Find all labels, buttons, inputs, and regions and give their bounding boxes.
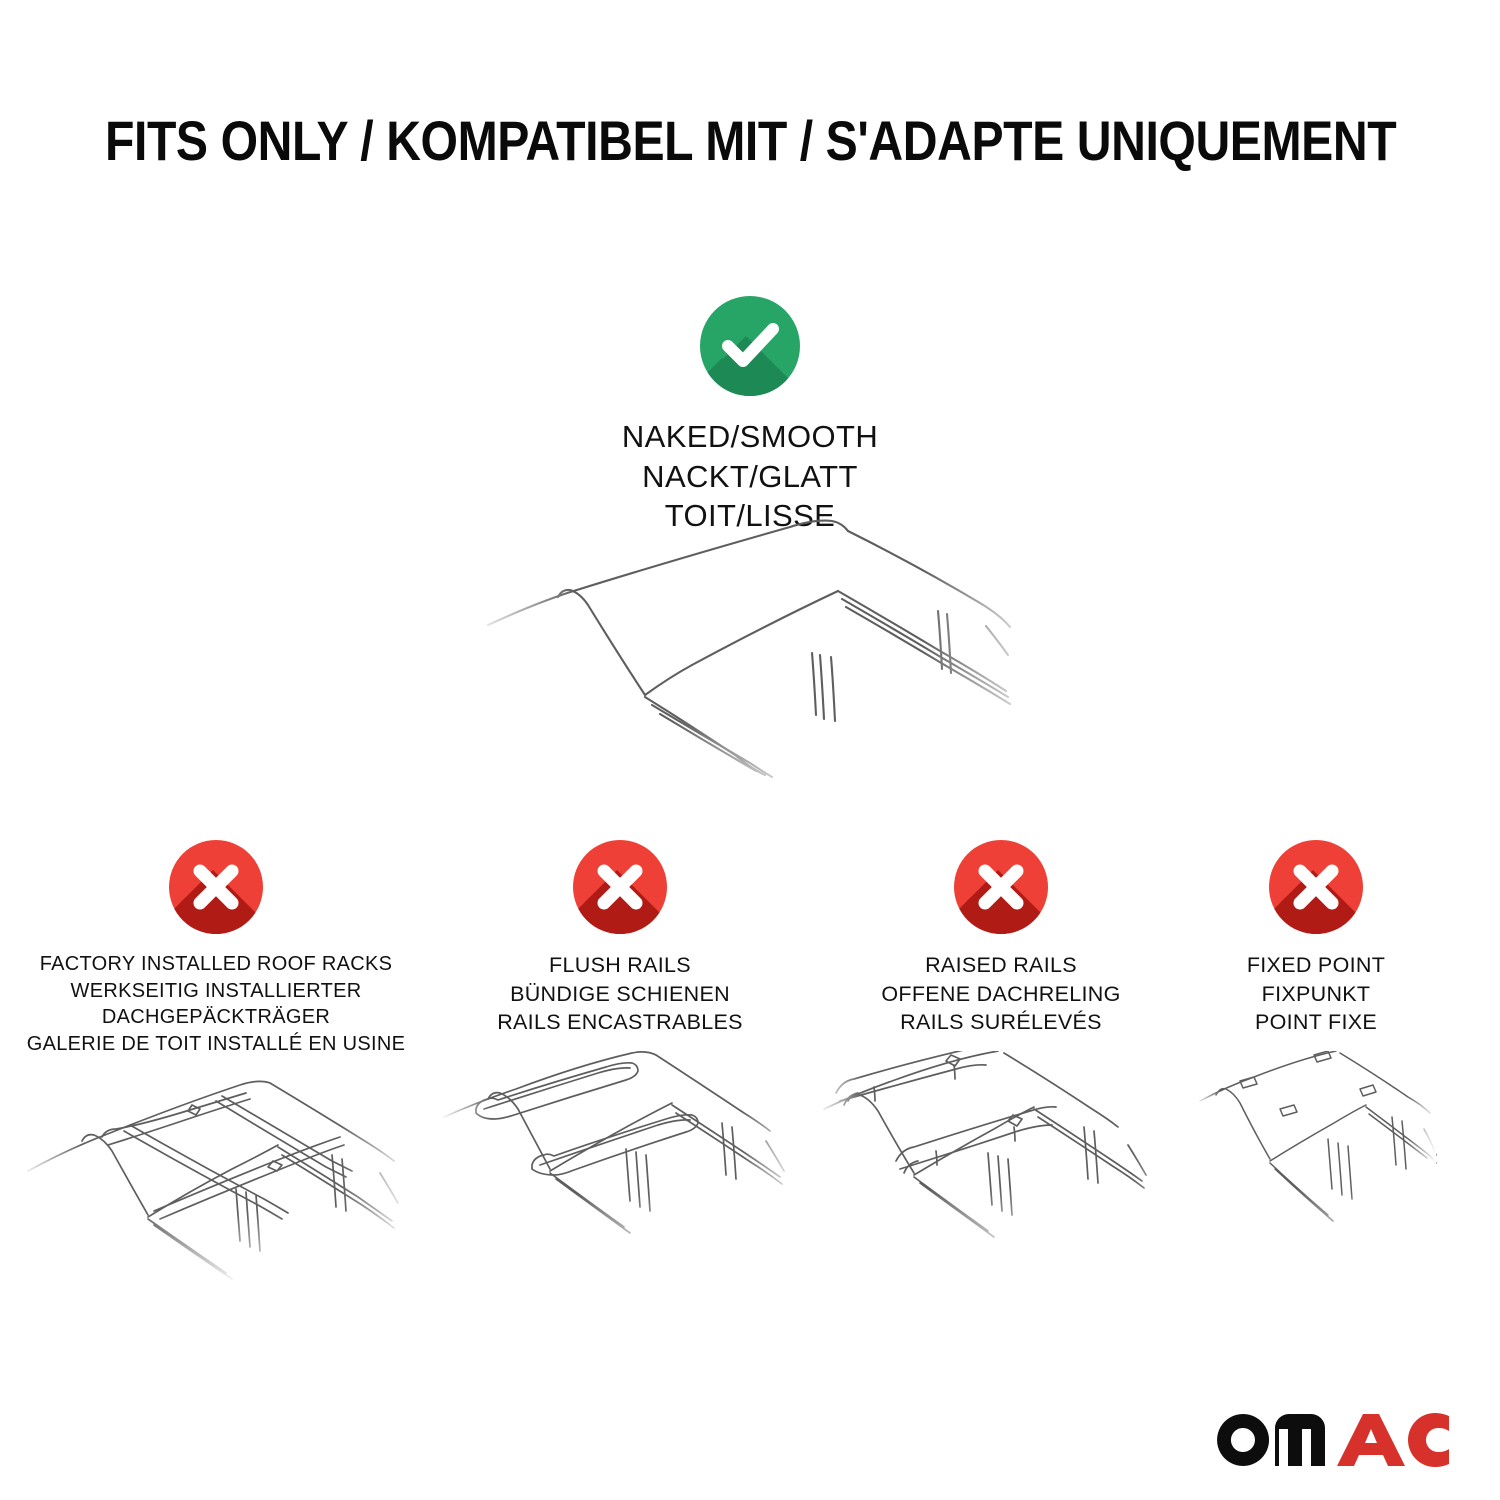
caption-line-3: RAILS ENCASTRABLES (440, 1008, 800, 1037)
caption-line-2: WERKSEITIG INSTALLIERTER (20, 978, 412, 1005)
x-mark-glyph (169, 840, 263, 934)
incompatible-caption: FACTORY INSTALLED ROOF RACKS WERKSEITIG … (20, 951, 412, 1057)
logo-letter-o (1217, 1414, 1269, 1466)
car-roof-raised-rails-illustration (818, 1051, 1184, 1266)
incompatible-item-factory-roof-racks: FACTORY INSTALLED ROOF RACKS WERKSEITIG … (20, 840, 412, 1291)
car-roof-flush-rails-illustration (440, 1051, 800, 1266)
incompatible-caption: RAISED RAILS OFFENE DACHRELING RAILS SUR… (818, 951, 1184, 1037)
caption-line-2: BÜNDIGE SCHIENEN (440, 980, 800, 1009)
caption-line-1: FLUSH RAILS (440, 951, 800, 980)
check-mark-glyph (700, 296, 800, 396)
logo-letter-m (1275, 1414, 1325, 1466)
caption-line-3: POINT FIXE (1196, 1008, 1436, 1037)
incompatible-item-flush-rails: FLUSH RAILS BÜNDIGE SCHIENEN RAILS ENCAS… (440, 840, 800, 1271)
caption-line-4: GALERIE DE TOIT INSTALLÉ EN USINE (20, 1031, 412, 1058)
car-roof-naked-smooth-illustration (470, 505, 1050, 805)
check-circle-icon (700, 296, 800, 396)
omac-logo (1213, 1404, 1453, 1476)
compatible-caption-line-1: NAKED/SMOOTH (0, 417, 1500, 457)
caption-line-1: FACTORY INSTALLED ROOF RACKS (20, 951, 412, 978)
page-title: FITS ONLY / KOMPATIBEL MIT / S'ADAPTE UN… (105, 108, 1395, 173)
x-circle-icon (169, 840, 263, 934)
incompatible-caption: FLUSH RAILS BÜNDIGE SCHIENEN RAILS ENCAS… (440, 951, 800, 1037)
compatible-section: NAKED/SMOOTH NACKT/GLATT TOIT/LISSE (0, 296, 1500, 536)
incompatible-section: FACTORY INSTALLED ROOF RACKS WERKSEITIG … (0, 840, 1500, 1300)
x-circle-icon (573, 840, 667, 934)
caption-line-1: FIXED POINT (1196, 951, 1436, 980)
car-roof-factory-installed-roof-racks-illustration (20, 1071, 412, 1286)
caption-line-3: RAILS SURÉLEVÉS (818, 1008, 1184, 1037)
x-mark-glyph (954, 840, 1048, 934)
x-mark-glyph (1269, 840, 1363, 934)
x-circle-icon (954, 840, 1048, 934)
caption-line-3: DACHGEPÄCKTRÄGER (20, 1004, 412, 1031)
caption-line-2: OFFENE DACHRELING (818, 980, 1184, 1009)
car-roof-fixed-point-illustration (1166, 1051, 1466, 1266)
x-circle-icon (1269, 840, 1363, 934)
caption-line-1: RAISED RAILS (818, 951, 1184, 980)
compatible-caption-line-2: NACKT/GLATT (0, 457, 1500, 497)
logo-letter-c (1408, 1413, 1449, 1467)
incompatible-item-raised-rails: RAISED RAILS OFFENE DACHRELING RAILS SUR… (818, 840, 1184, 1271)
logo-letter-a (1337, 1414, 1405, 1466)
incompatible-item-fixed-point: FIXED POINT FIXPUNKT POINT FIXE (1196, 840, 1436, 1271)
incompatible-caption: FIXED POINT FIXPUNKT POINT FIXE (1196, 951, 1436, 1037)
caption-line-2: FIXPUNKT (1196, 980, 1436, 1009)
x-mark-glyph (573, 840, 667, 934)
